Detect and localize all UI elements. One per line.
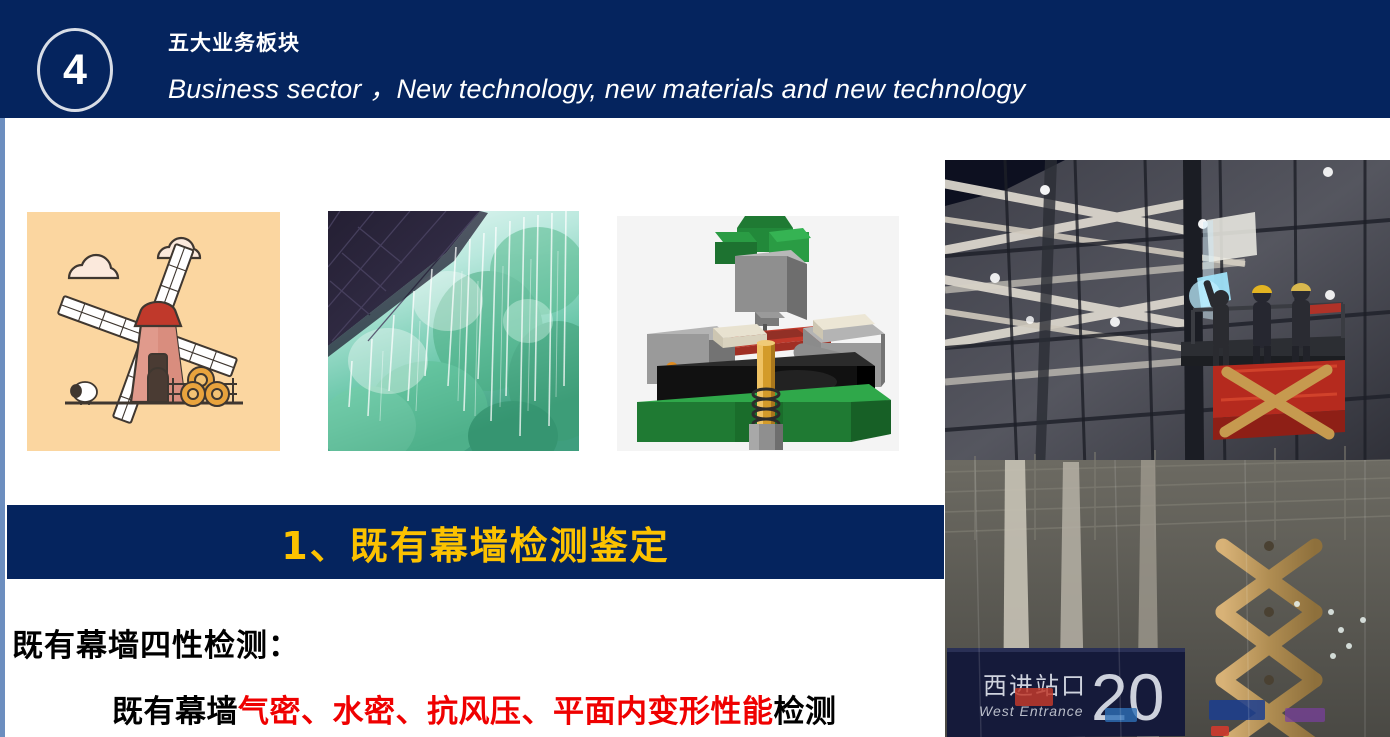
body-detail-line: 既有幕墙气密、水密、抗风压、平面内变形性能检测 [112,686,837,731]
header-title-en: Business sector ，New technology, new mat… [168,67,1348,106]
header-title-cn: 五大业务板块 [168,27,1348,57]
station-sign-number: 20 [1091,660,1164,734]
section-number-badge: 4 [37,28,113,112]
press-die-render [617,216,899,451]
curtain-wall-night-photo: 西进站口 West Entrance 20 [945,160,1390,737]
body-detail-highlight: 气密、水密、抗风压、平面内变形性能 [238,694,774,730]
body-detail-suffix: 检测 [774,694,837,730]
header-text-group: 五大业务板块 Business sector ，New technology, … [168,27,1348,106]
rain-roof-photo [328,211,579,451]
slide-root: 4 五大业务板块 Business sector ，New technology… [0,0,1390,737]
section-number: 4 [63,49,87,92]
header-bar: 4 五大业务板块 Business sector ，New technology… [0,0,1390,118]
windmill-illustration [27,212,280,451]
section-title-banner: 1、既有幕墙检测鉴定 [7,505,944,579]
section-title-text: 1、既有幕墙检测鉴定 [281,515,669,570]
left-accent-strip [0,118,5,737]
body-heading: 既有幕墙四性检测： [12,620,300,665]
body-detail-prefix: 既有幕墙 [112,694,238,730]
